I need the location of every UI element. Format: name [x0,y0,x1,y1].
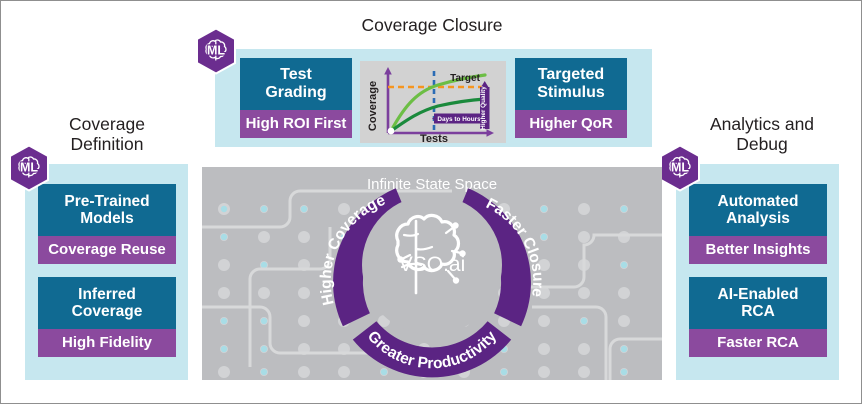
svg-text:Tests: Tests [420,133,448,143]
card-subtitle: Better Insights [689,236,827,264]
card-automated-analysis[interactable]: Automated Analysis Better Insights [689,184,827,264]
ml-badge-icon: ML [7,144,51,192]
svg-text:Days to Hours: Days to Hours [437,116,481,123]
svg-text:ML: ML [20,161,38,175]
hub-label: VSO.ai [399,253,466,276]
card-subtitle: Faster RCA [689,329,827,357]
card-title: AI-Enabled RCA [689,277,827,329]
card-title: Test Grading [240,58,352,110]
svg-text:ML: ML [671,161,689,175]
card-subtitle: High ROI First [240,110,352,138]
svg-text:Higher Quality: Higher Quality [480,86,487,130]
infinite-state-space-panel: Infinite State Space [202,167,662,380]
ml-badge-icon: ML [658,144,702,192]
card-title: Automated Analysis [689,184,827,236]
svg-text:Target: Target [450,73,480,84]
card-subtitle: High Fidelity [38,329,176,357]
chart-svg: Coverage Tests Target Days to Hours High… [360,61,506,143]
card-pre-trained-models[interactable]: Pre-Trained Models Coverage Reuse [38,184,176,264]
card-title: Inferred Coverage [38,277,176,329]
diagram-canvas: Coverage Closure Test Grading High ROI F… [0,0,862,404]
card-title: Targeted Stimulus [515,58,627,110]
card-title: Pre-Trained Models [38,184,176,236]
card-targeted-stimulus[interactable]: Targeted Stimulus Higher QoR [515,58,627,138]
infinite-state-space-label: Infinite State Space [367,176,497,193]
state-space-svg: Infinite State Space [202,167,662,380]
ml-badge-icon: ML [194,27,238,75]
svg-text:Coverage: Coverage [367,81,379,131]
card-inferred-coverage[interactable]: Inferred Coverage High Fidelity [38,277,176,357]
card-subtitle: Higher QoR [515,110,627,138]
coverage-closure-chart: Coverage Tests Target Days to Hours High… [360,61,506,143]
card-subtitle: Coverage Reuse [38,236,176,264]
top-group-heading: Coverage Closure [202,15,662,35]
card-test-grading[interactable]: Test Grading High ROI First [240,58,352,138]
svg-text:ML: ML [207,44,225,58]
card-ai-enabled-rca[interactable]: AI-Enabled RCA Faster RCA [689,277,827,357]
